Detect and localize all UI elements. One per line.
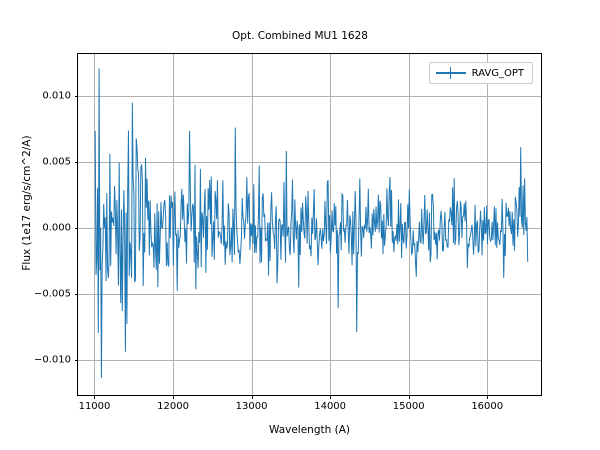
y-tick-mark [75, 96, 79, 97]
x-tick-label: 13000 [236, 401, 268, 412]
x-tick-mark [409, 395, 410, 399]
y-axis-label: Flux (1e17 erg/s/cm^2/A) [21, 83, 33, 323]
x-axis-label: Wavelength (A) [77, 424, 542, 436]
y-tick-label: 0.005 [42, 157, 71, 168]
legend-box[interactable]: RAVG_OPT [429, 62, 533, 84]
plot-axes: 110001200013000140001500016000 0.0100.00… [77, 53, 542, 396]
y-tick-label: −0.005 [34, 289, 71, 300]
chart-title: Opt. Combined MU1 1628 [0, 30, 600, 42]
x-tick-mark [94, 395, 95, 399]
x-tick-label: 16000 [471, 401, 503, 412]
x-tick-mark [173, 395, 174, 399]
y-tick-mark [75, 162, 79, 163]
spectrum-line-series [78, 54, 541, 395]
x-tick-mark [487, 395, 488, 399]
x-tick-label: 15000 [393, 401, 425, 412]
x-tick-label: 14000 [314, 401, 346, 412]
data-plot-area [78, 54, 541, 395]
y-tick-label: 0.010 [42, 91, 71, 102]
errorbar-cap-icon [436, 67, 466, 79]
x-tick-label: 12000 [157, 401, 189, 412]
y-tick-label: −0.010 [34, 355, 71, 366]
y-tick-mark [75, 360, 79, 361]
x-tick-mark [252, 395, 253, 399]
figure-canvas: Opt. Combined MU1 1628 11000120001300014… [0, 0, 600, 450]
y-tick-mark [75, 228, 79, 229]
spectrum-path [95, 68, 528, 378]
y-tick-mark [75, 294, 79, 295]
legend-label-ravg-opt: RAVG_OPT [472, 68, 524, 79]
x-tick-label: 11000 [79, 401, 111, 412]
y-tick-label: 0.000 [42, 223, 71, 234]
x-tick-mark [330, 395, 331, 399]
